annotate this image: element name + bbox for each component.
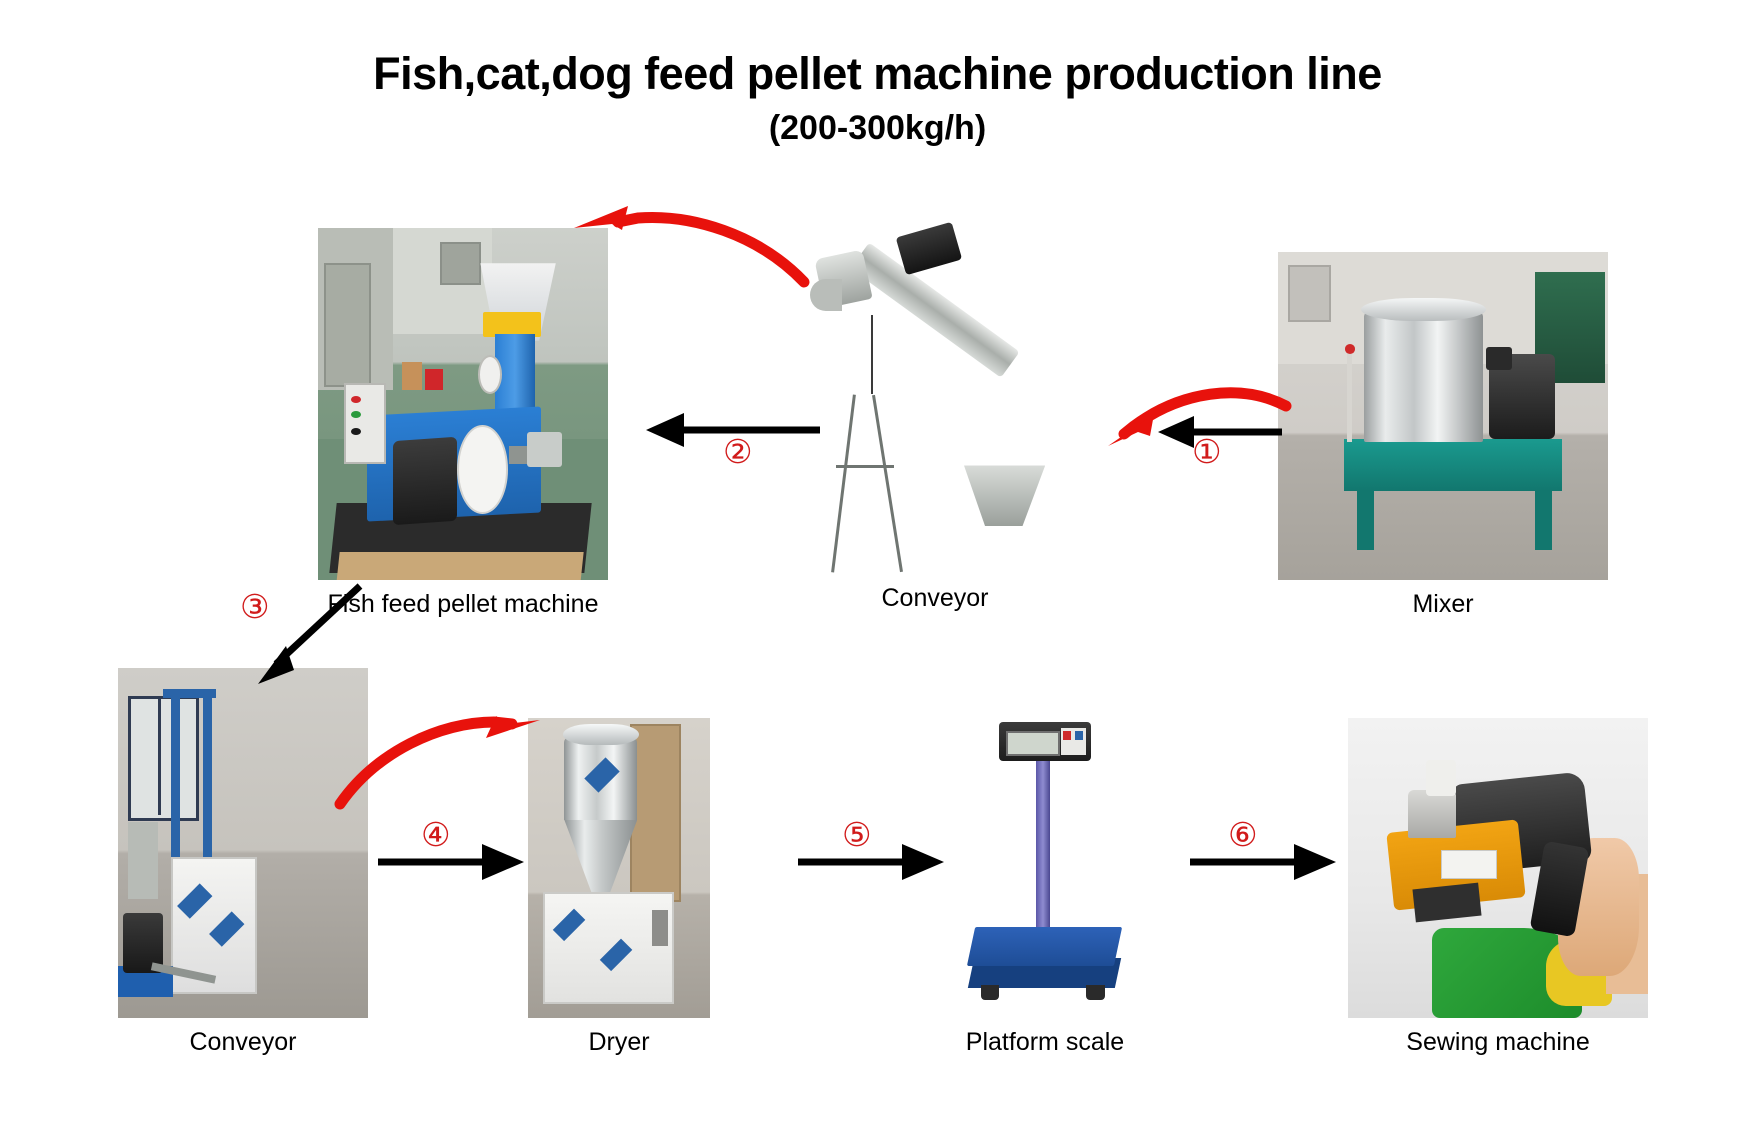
caption-belt-conveyor: Conveyor — [118, 1028, 368, 1057]
caption-fish-feed-pellet-machine: Fish feed pellet machine — [318, 590, 608, 619]
node-dryer[interactable]: Dryer — [528, 718, 710, 1057]
mixer-photo — [1278, 252, 1608, 580]
caption-sewing-machine: Sewing machine — [1348, 1028, 1648, 1057]
page-subtitle: (200-300kg/h) — [0, 106, 1755, 150]
screw-conveyor-photo — [790, 222, 1080, 580]
step-number-three: ③ — [240, 592, 270, 625]
red-arrow-mixer-to-conveyor — [1050, 380, 1290, 470]
platform-scale-photo — [930, 716, 1160, 1018]
step-number-two: ② — [723, 437, 753, 470]
black-arrow-step-five — [798, 840, 948, 884]
node-mixer[interactable]: Mixer — [1278, 252, 1608, 619]
node-fish-feed-pellet-machine[interactable]: Fish feed pellet machine — [318, 228, 608, 619]
step-number-one: ① — [1192, 437, 1222, 470]
caption-mixer: Mixer — [1278, 590, 1608, 619]
sewing-machine-photo — [1348, 718, 1648, 1018]
node-platform-scale[interactable]: Platform scale — [930, 716, 1160, 1057]
step-number-five: ⑤ — [842, 820, 872, 853]
node-screw-conveyor[interactable]: Conveyor — [790, 222, 1080, 613]
dryer-photo — [528, 718, 710, 1018]
belt-conveyor-photo — [118, 668, 368, 1018]
caption-platform-scale: Platform scale — [930, 1028, 1160, 1057]
step-number-four: ④ — [421, 820, 451, 853]
black-arrow-step-four — [378, 840, 528, 884]
fish-feed-pellet-machine-photo — [318, 228, 608, 580]
node-sewing-machine[interactable]: Sewing machine — [1348, 718, 1648, 1057]
black-arrow-step-six — [1190, 840, 1340, 884]
caption-screw-conveyor: Conveyor — [790, 584, 1080, 613]
page-title: Fish,cat,dog feed pellet machine product… — [0, 46, 1755, 102]
step-number-six: ⑥ — [1228, 820, 1258, 853]
caption-dryer: Dryer — [528, 1028, 710, 1057]
node-belt-conveyor[interactable]: Conveyor — [118, 668, 368, 1057]
diagram-canvas: Fish,cat,dog feed pellet machine product… — [0, 0, 1755, 1123]
title-block: Fish,cat,dog feed pellet machine product… — [0, 46, 1755, 150]
